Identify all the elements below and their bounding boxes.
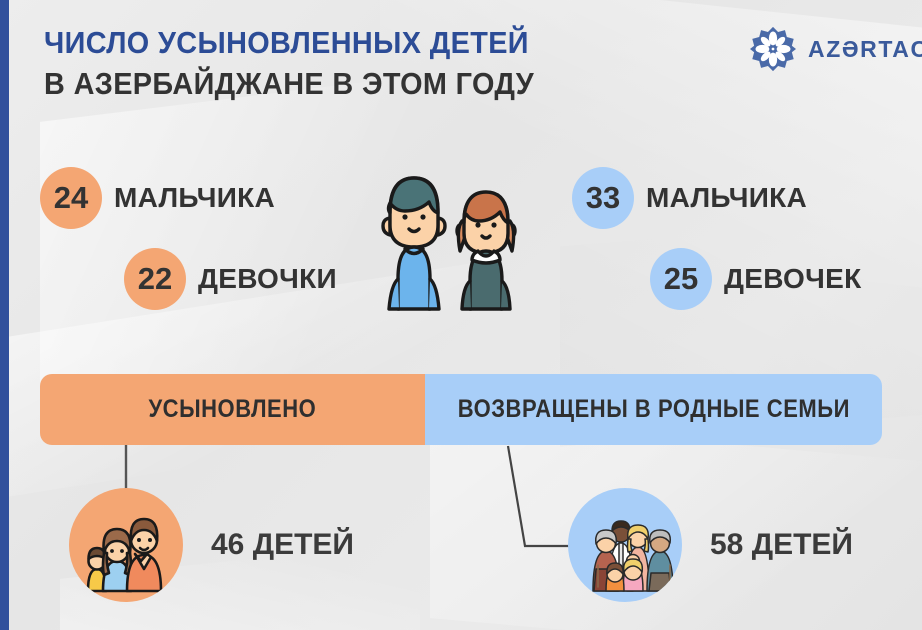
page-title: ЧИСЛО УСЫНОВЛЕННЫХ ДЕТЕЙ В АЗЕРБАЙДЖАНЕ …: [44, 22, 684, 104]
stat-count-badge: 22: [124, 248, 186, 310]
logo-wordmark: AZƏRTAC: [808, 36, 922, 63]
azertac-logo: AZƏRTAC: [750, 26, 922, 72]
stat-adopted-boys: 24 МАЛЬЧИКА: [40, 167, 275, 229]
extended-family-icon: [568, 488, 682, 602]
small-family-icon: [69, 488, 183, 602]
banner-returned: ВОЗВРАЩЕНЫ В РОДНЫЕ СЕМЬИ: [425, 374, 882, 445]
result-returned: 58 ДЕТЕЙ: [568, 488, 853, 602]
stat-count-badge: 25: [650, 248, 712, 310]
banner-adopted-label: УСЫНОВЛЕНО: [149, 395, 317, 424]
banner-adopted: УСЫНОВЛЕНО: [40, 374, 425, 445]
title-line-primary: ЧИСЛО УСЫНОВЛЕННЫХ ДЕТЕЙ: [44, 22, 639, 63]
boy-and-girl-icon: [360, 163, 540, 313]
left-accent-bar: [0, 0, 9, 630]
stat-count-badge: 33: [572, 167, 634, 229]
stat-label: МАЛЬЧИКА: [646, 182, 807, 214]
stat-label: МАЛЬЧИКА: [114, 182, 275, 214]
azertac-rosette-icon: [750, 26, 796, 72]
result-adopted: 46 ДЕТЕЙ: [69, 488, 354, 602]
stat-returned-boys: 33 МАЛЬЧИКА: [572, 167, 807, 229]
title-line-secondary: В АЗЕРБАЙДЖАНЕ В ЭТОМ ГОДУ: [44, 63, 639, 104]
stat-count-badge: 24: [40, 167, 102, 229]
infographic-canvas: ЧИСЛО УСЫНОВЛЕННЫХ ДЕТЕЙ В АЗЕРБАЙДЖАНЕ …: [0, 0, 922, 630]
stat-label: ДЕВОЧКИ: [198, 263, 337, 295]
result-returned-count: 58 ДЕТЕЙ: [710, 528, 853, 562]
stat-label: ДЕВОЧЕК: [724, 263, 861, 295]
result-adopted-count: 46 ДЕТЕЙ: [211, 528, 354, 562]
banner-returned-label: ВОЗВРАЩЕНЫ В РОДНЫЕ СЕМЬИ: [457, 395, 849, 424]
stat-returned-girls: 25 ДЕВОЧЕК: [650, 248, 861, 310]
stat-adopted-girls: 22 ДЕВОЧКИ: [124, 248, 337, 310]
